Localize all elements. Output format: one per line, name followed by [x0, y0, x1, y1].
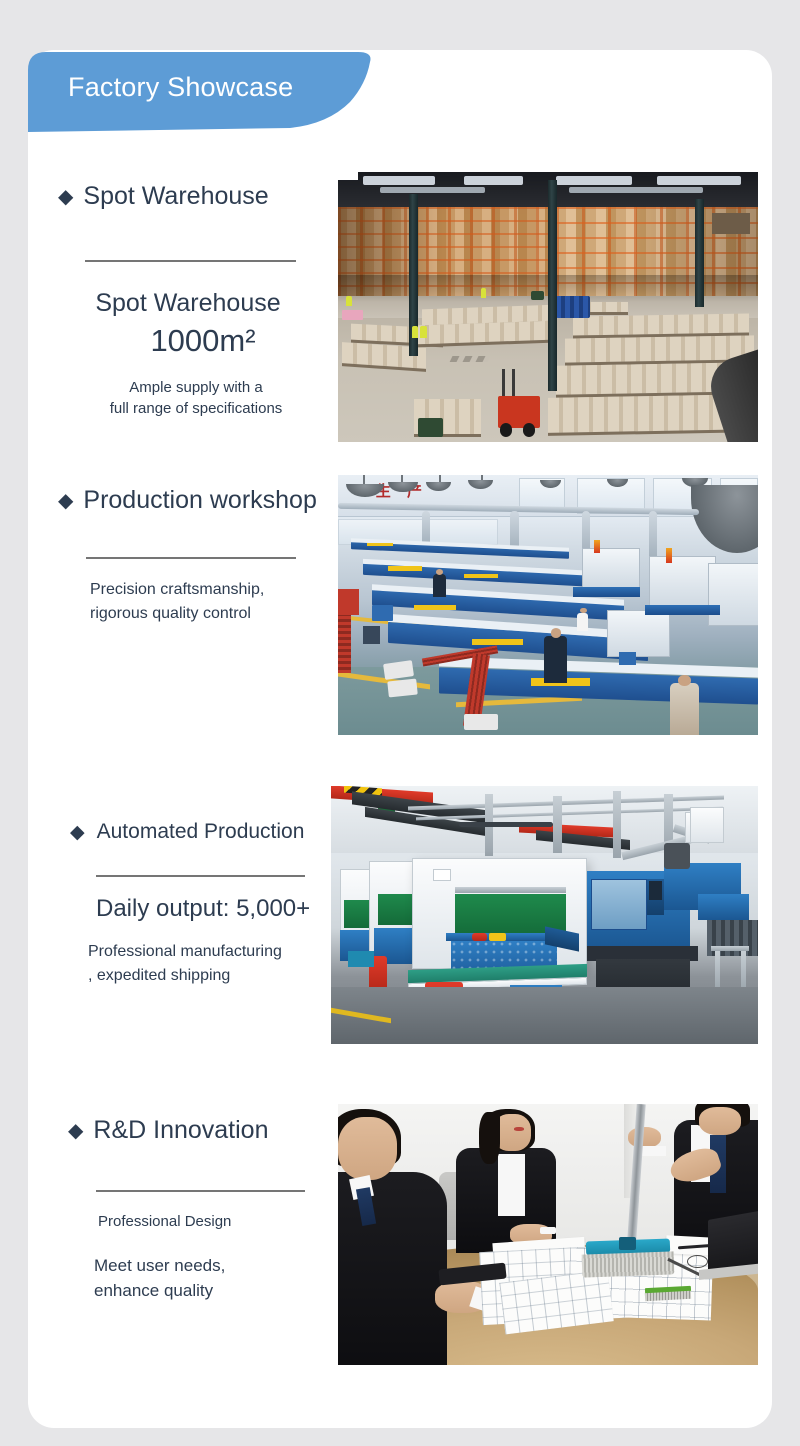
section-heading-4: ◆ R&D Innovation	[68, 1116, 269, 1145]
rnd-meeting-scene	[338, 1104, 758, 1365]
automated-description: Professional manufacturing , expedited s…	[88, 940, 338, 988]
diamond-icon: ◆	[68, 1121, 83, 1141]
section-heading-label: Production workshop	[83, 486, 316, 515]
section-divider-4	[96, 1190, 305, 1192]
warehouse-area-line: 1000m²	[80, 323, 326, 359]
diamond-icon: ◆	[58, 491, 73, 511]
diamond-icon: ◆	[70, 823, 85, 842]
rnd-small-line: Professional Design	[98, 1213, 231, 1230]
banner-card-overlap	[28, 136, 358, 180]
page-root: Factory Showcase ◆ Spot Warehouse Spot W…	[0, 0, 800, 1446]
section-heading-2: ◆ Production workshop	[58, 486, 317, 515]
automated-production-scene	[331, 786, 758, 1044]
page-title: Factory Showcase	[68, 72, 293, 103]
workshop-photo: 生 产	[338, 475, 758, 735]
warehouse-description: Ample supply with a full range of specif…	[66, 377, 326, 419]
workshop-description: Precision craftsmanship, rigorous qualit…	[90, 578, 340, 626]
section-heading-label: R&D Innovation	[93, 1116, 268, 1145]
rnd-meeting-photo	[338, 1104, 758, 1365]
workshop-scene: 生 产	[338, 475, 758, 735]
header-banner: Factory Showcase	[28, 50, 388, 136]
section-heading-3: ◆ Automated Production	[70, 820, 304, 844]
daily-output-line: Daily output: 5,000+	[96, 895, 310, 923]
section-heading-label: Automated Production	[97, 820, 305, 844]
rnd-description: Meet user needs, enhance quality	[94, 1253, 344, 1303]
section-divider-3	[96, 875, 305, 877]
automated-production-photo	[331, 786, 758, 1044]
section-divider-2	[86, 557, 296, 559]
